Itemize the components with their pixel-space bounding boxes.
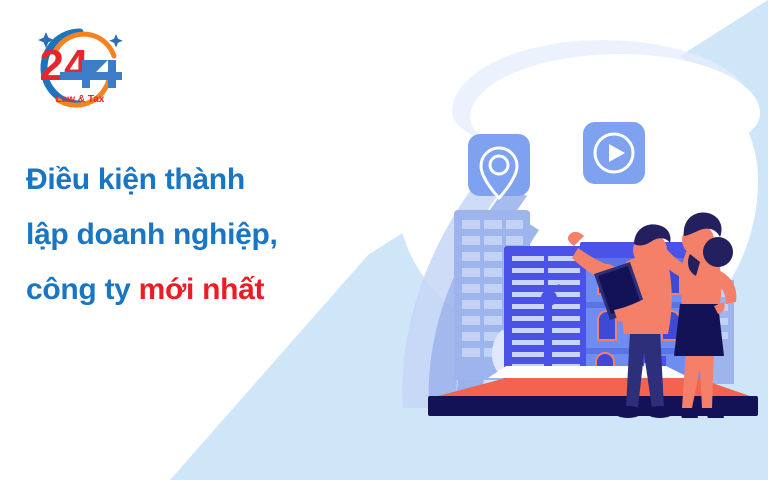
- headline: Điều kiện thành lập doanh nghiệp, công t…: [26, 152, 386, 317]
- headline-line-3: công ty mới nhất: [26, 262, 386, 317]
- video-play-card[interactable]: [583, 122, 645, 184]
- headline-line-3-red: mới nhất: [139, 273, 265, 306]
- banner-root: 24 Law & Tax Điều kiện thành lập doanh n…: [0, 0, 768, 480]
- logo-tagline: Law & Tax: [56, 94, 105, 105]
- brand-logo[interactable]: 24 Law & Tax: [24, 22, 136, 114]
- headline-line-2: lập doanh nghiệp,: [26, 207, 386, 262]
- hero-illustration: [398, 30, 768, 480]
- location-pin-card[interactable]: [468, 134, 530, 198]
- headline-line-1: Điều kiện thành: [26, 152, 386, 207]
- headline-line-3-blue: công ty: [26, 273, 139, 306]
- tower-front: [504, 246, 586, 384]
- logo-digit-two: 24: [40, 41, 89, 90]
